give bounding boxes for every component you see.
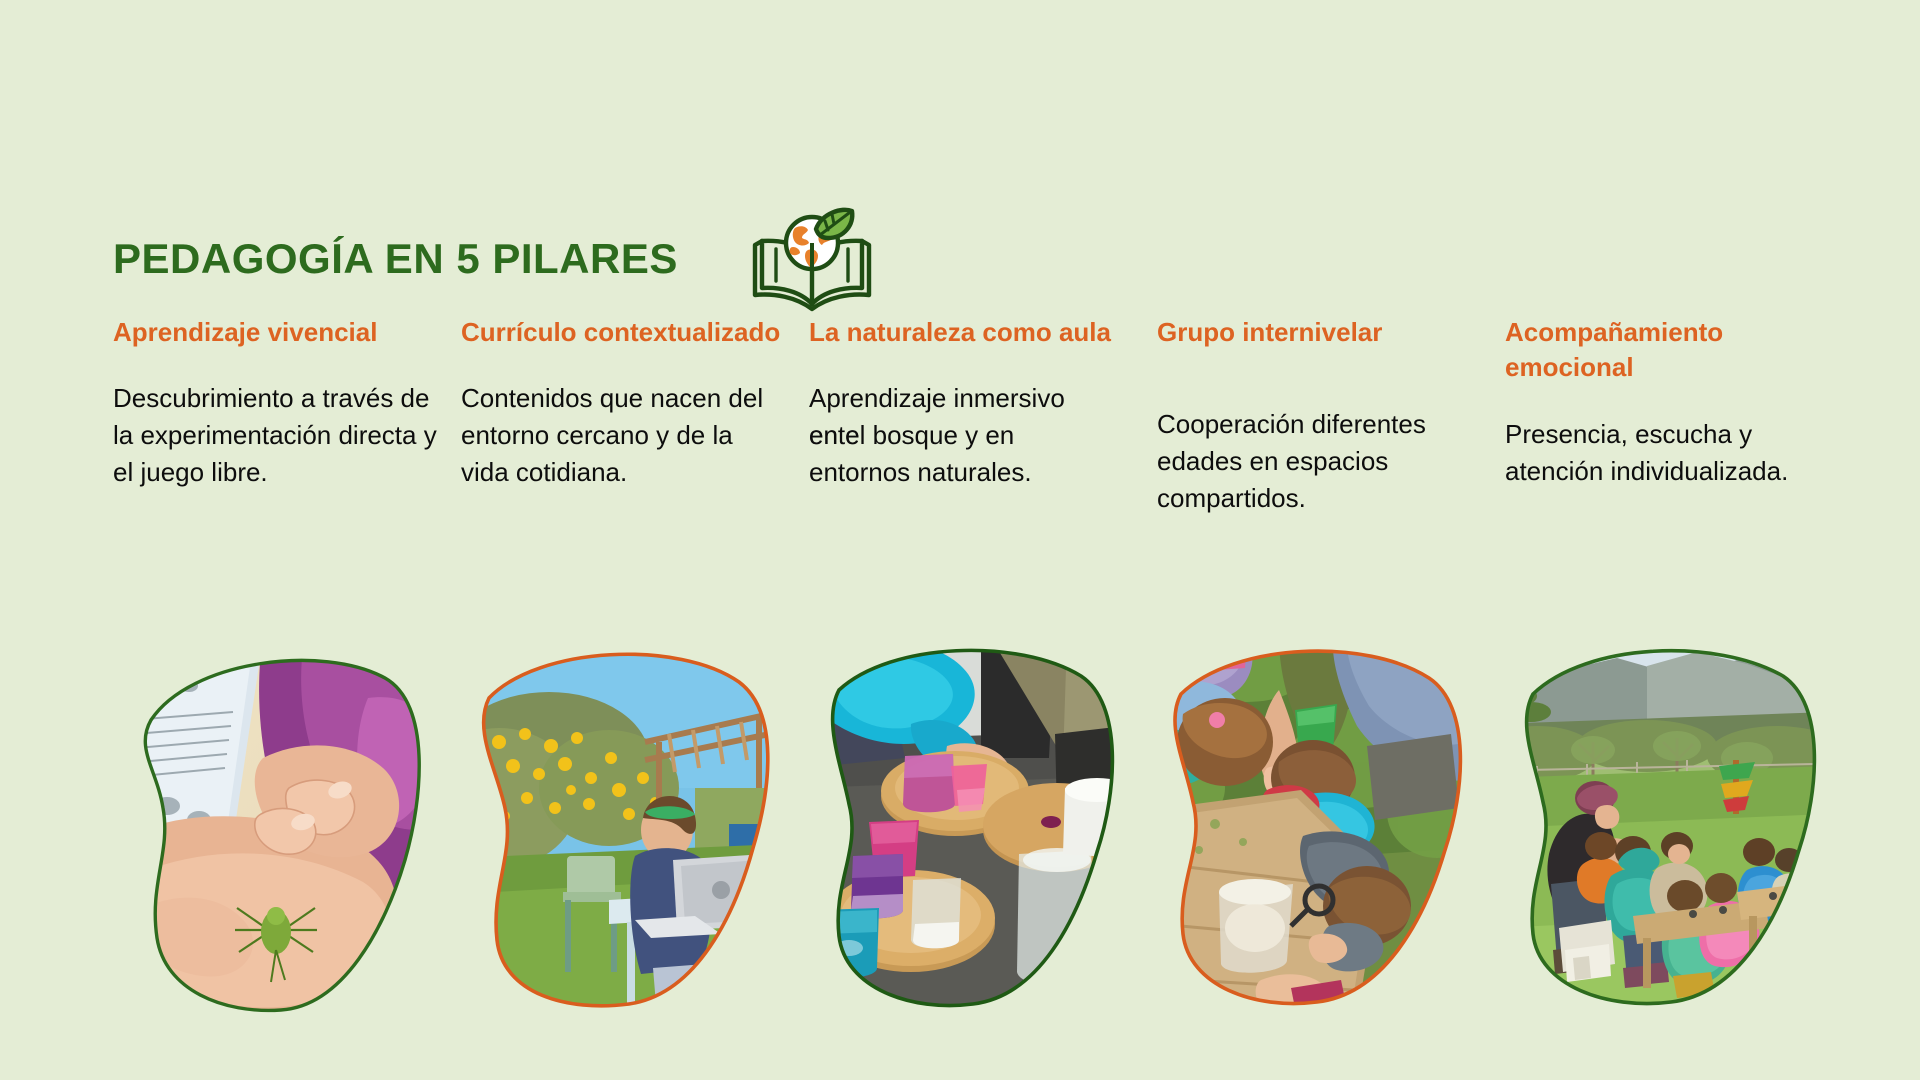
pillar-body: Contenidos que nacen del entorno cercano… bbox=[461, 380, 785, 491]
slide-canvas: PEDAGOGÍA EN 5 PILARES bbox=[0, 0, 1920, 1080]
pillar-heading: La naturaleza como aula bbox=[809, 315, 1129, 350]
pillar-photo-4 bbox=[1151, 638, 1471, 1018]
pillar-photo-row bbox=[113, 638, 1873, 1033]
pillar-photo-1 bbox=[113, 638, 433, 1018]
pillar-heading: Aprendizaje vivencial bbox=[113, 315, 437, 350]
pillar-column-5: Acompañamiento emocional Presencia, escu… bbox=[1505, 315, 1853, 517]
page-title: PEDAGOGÍA EN 5 PILARES bbox=[113, 238, 678, 280]
slide-header: PEDAGOGÍA EN 5 PILARES bbox=[113, 205, 876, 313]
pillar-body: Cooperación diferentes edades en espacio… bbox=[1157, 406, 1481, 517]
pillar-column-1: Aprendizaje vivencial Descubrimiento a t… bbox=[113, 315, 461, 517]
pillar-photo-2 bbox=[459, 638, 779, 1018]
pillar-body: Presencia, escucha y atención individual… bbox=[1505, 416, 1829, 490]
pillar-heading: Currículo contextualizado bbox=[461, 315, 785, 350]
pillar-body-overlap-text: ente bbox=[809, 417, 860, 454]
pillar-body-line-3: entornos naturales. bbox=[809, 457, 1032, 487]
book-globe-leaf-icon bbox=[748, 205, 876, 313]
pillar-heading: Grupo internivelar bbox=[1157, 315, 1481, 350]
pillar-column-2: Currículo contextualizado Contenidos que… bbox=[461, 315, 809, 517]
pillar-body: Aprendizaje inmersivo en el bosque y en … bbox=[809, 380, 1133, 491]
pillar-columns: Aprendizaje vivencial Descubrimiento a t… bbox=[113, 315, 1853, 517]
pillar-body-line-1: Aprendizaje inmersivo bbox=[809, 383, 1065, 413]
pillar-body: Descubrimiento a través de la experiment… bbox=[113, 380, 437, 491]
pillar-column-3: La naturaleza como aula Aprendizaje inme… bbox=[809, 315, 1157, 517]
pillar-body-line-2: en el bosque y en ente bbox=[809, 417, 1133, 454]
pillar-photo-5 bbox=[1497, 638, 1827, 1018]
pillar-heading: Acompañamiento emocional bbox=[1505, 315, 1829, 386]
pillar-column-4: Grupo internivelar Cooperación diferente… bbox=[1157, 315, 1505, 517]
pillar-photo-3 bbox=[805, 638, 1125, 1018]
